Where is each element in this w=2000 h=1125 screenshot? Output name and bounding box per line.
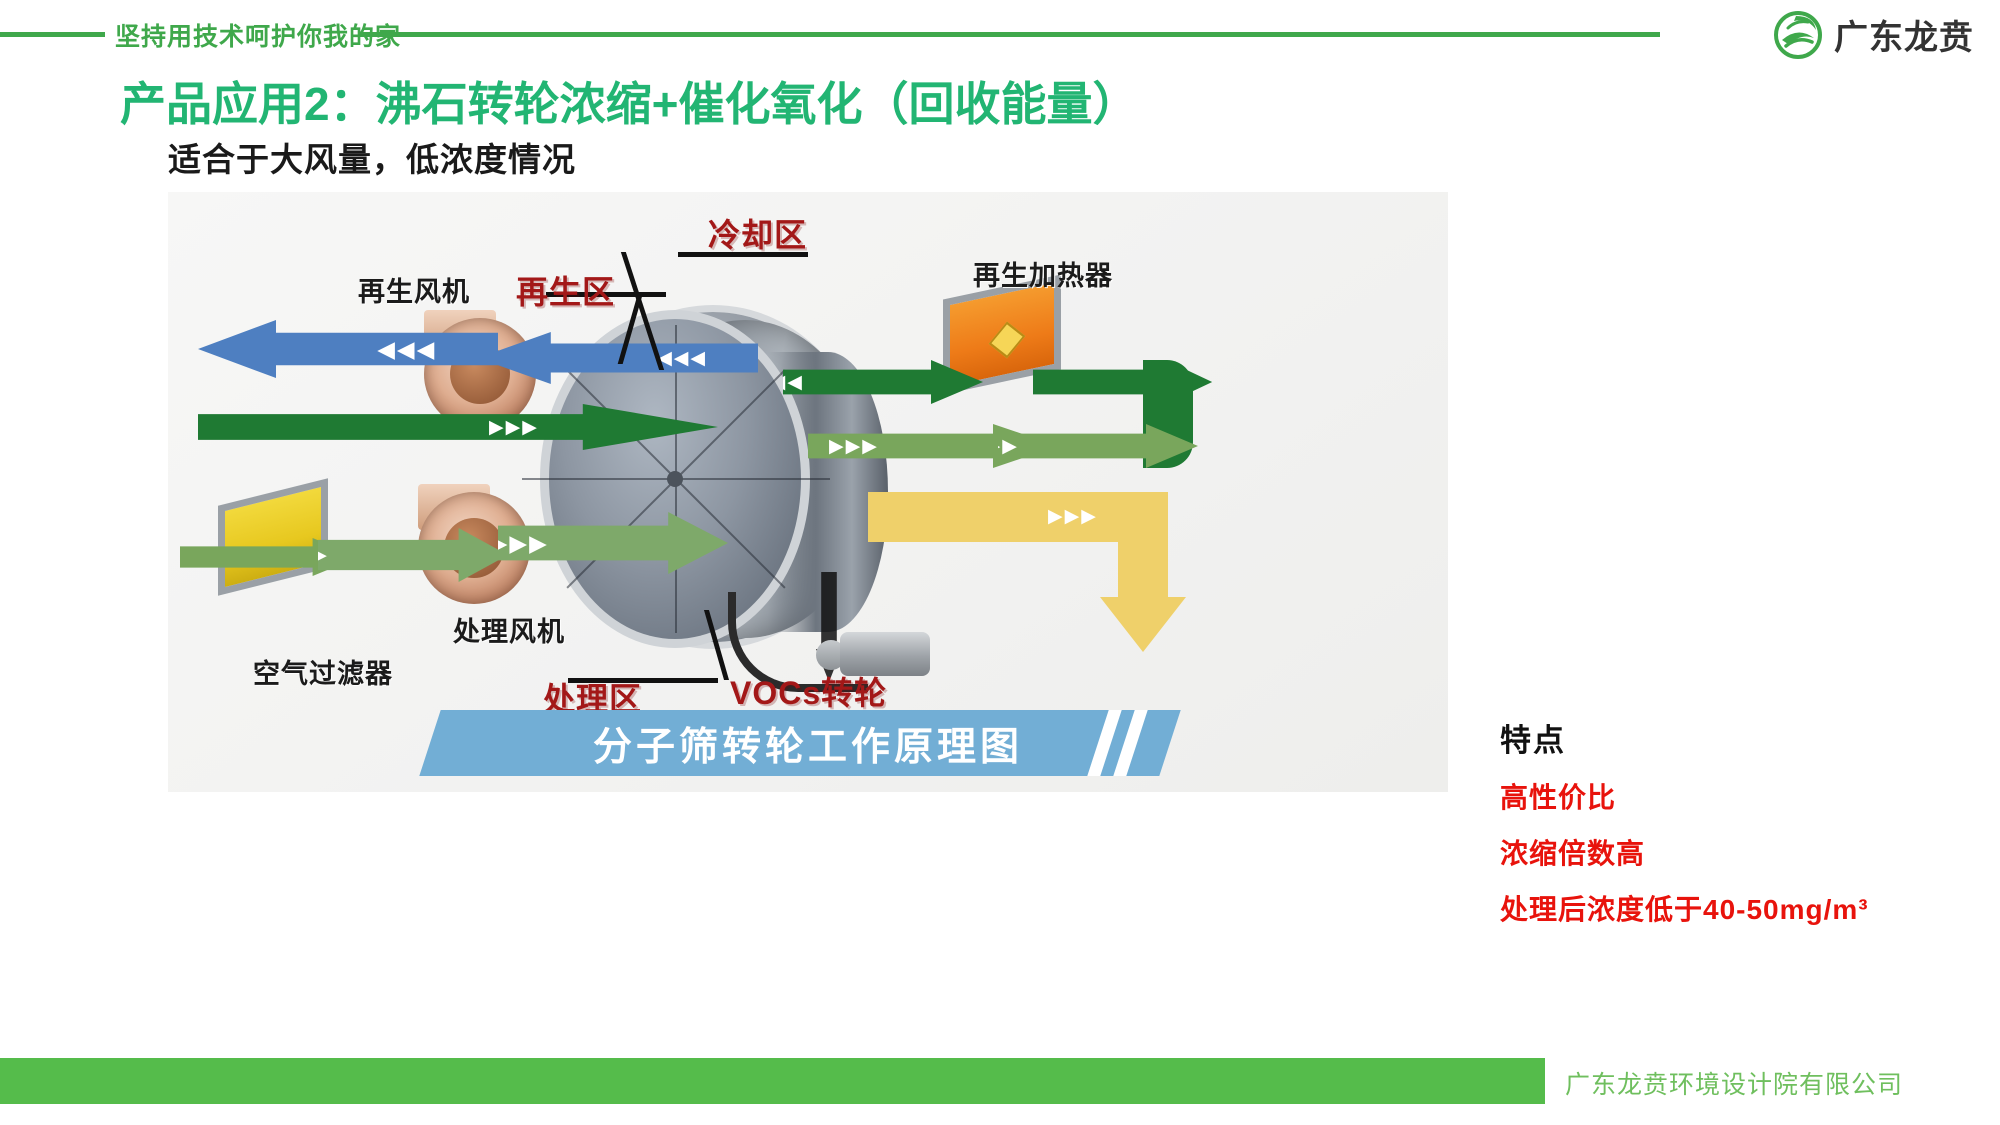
page-header: 坚持用技术呵护你我的家 广东龙贲 (0, 0, 2000, 68)
footer-company-name: 广东龙贲环境设计院有限公司 (1565, 1065, 1903, 1101)
label-regen-fan: 再生风机 (358, 270, 470, 309)
footer-bar (0, 1058, 1545, 1104)
feature-item: 高性价比 (1500, 776, 1980, 816)
leader-process-zone (568, 610, 718, 682)
header-rule-right (360, 32, 1660, 37)
label-process-fan: 处理风机 (453, 610, 565, 649)
header-tagline: 坚持用技术呵护你我的家 (115, 17, 401, 53)
features-title: 特点 (1500, 715, 1980, 760)
page-title: 产品应用2：沸石转轮浓缩+催化氧化（回收能量） (120, 68, 1138, 134)
feature-item: 浓缩倍数高 (1500, 832, 1980, 872)
air-filter-unit (218, 478, 328, 595)
brand-logo[interactable]: 广东龙贲 (1772, 6, 1974, 62)
label-cooling-zone: 冷却区 (708, 210, 807, 256)
rotor-hub (667, 471, 683, 487)
leader-cooling-zone (678, 252, 808, 370)
label-regen-zone: 再生区 (516, 267, 615, 313)
process-diagram: ◀◀◀ ◀◀◀ ▶▶▶ ◀◀◀ ◀◀◀ ▶▶▶ ▶▶▶ ▶▶▶ ▶▶▶ ▶▶▶ … (168, 192, 1448, 792)
arrow-clean-gas-head (1100, 597, 1186, 652)
brand-logo-text: 广东龙贲 (1834, 10, 1974, 59)
features-block: 特点 高性价比 浓缩倍数高 处理后浓度低于40-50mg/m³ (1500, 715, 1980, 944)
header-rule-left (0, 32, 105, 37)
page-subtitle: 适合于大风量，低浓度情况 (168, 133, 576, 181)
label-regen-heater: 再生加热器 (973, 254, 1113, 293)
diagram-banner-label: 分子筛转轮工作原理图 (498, 716, 1118, 772)
arrow-clean-gas-vertical (1118, 492, 1168, 602)
leaf-circle-logo-icon (1772, 8, 1824, 60)
label-air-filter: 空气过滤器 (253, 652, 393, 691)
label-vocs-wheel: VOCs转轮 (730, 668, 887, 714)
feature-item: 处理后浓度低于40-50mg/m³ (1500, 888, 1980, 928)
heater-badge-icon (989, 322, 1026, 359)
